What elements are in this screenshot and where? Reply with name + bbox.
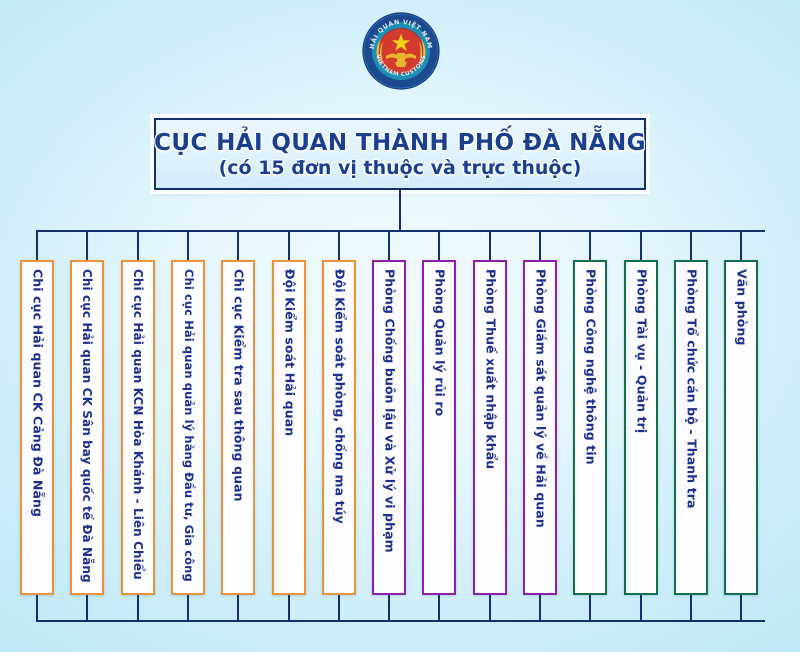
unit-label: Văn phòng bbox=[735, 269, 748, 346]
connector-riser bbox=[438, 594, 440, 621]
unit-box[interactable]: Phòng Quản lý rủi ro bbox=[422, 260, 456, 595]
unit-label: Phòng Thuế xuất nhập khẩu bbox=[483, 269, 496, 469]
connector-drop bbox=[86, 231, 88, 261]
top-bus-line bbox=[36, 230, 765, 232]
unit-label: Chi cục Kiểm tra sau thông quan bbox=[232, 269, 245, 502]
connector-riser bbox=[137, 594, 139, 621]
unit-box[interactable]: Chi cục Kiểm tra sau thông quan bbox=[221, 260, 255, 595]
root-title-box: CỤC HẢI QUAN THÀNH PHỐ ĐÀ NẴNG (có 15 đơ… bbox=[154, 118, 646, 190]
unit-box[interactable]: Đội Kiểm soát Hải quan bbox=[272, 260, 306, 595]
connector-riser bbox=[740, 594, 742, 621]
connector-drop bbox=[740, 231, 742, 261]
connector-drop bbox=[237, 231, 239, 261]
connector-riser bbox=[288, 594, 290, 621]
connector-riser bbox=[237, 594, 239, 621]
connector-drop bbox=[640, 231, 642, 261]
unit-label: Phòng Tài vụ - Quản trị bbox=[634, 269, 647, 433]
connector-riser bbox=[690, 594, 692, 621]
connector-riser bbox=[589, 594, 591, 621]
connector-drop bbox=[690, 231, 692, 261]
connector-drop bbox=[338, 231, 340, 261]
connector-drop bbox=[438, 231, 440, 261]
connector-drop bbox=[589, 231, 591, 261]
unit-label: Phòng Tổ chức cán bộ - Thanh tra bbox=[685, 269, 698, 509]
bottom-bus-line bbox=[36, 620, 765, 622]
unit-box[interactable]: Văn phòng bbox=[724, 260, 758, 595]
unit-box[interactable]: Phòng Công nghệ thông tin bbox=[573, 260, 607, 595]
connector-riser bbox=[388, 594, 390, 621]
unit-label: Phòng Quản lý rủi ro bbox=[433, 269, 446, 416]
unit-label: Chi cục Hải quan CK Sân bay quốc tế Đà N… bbox=[81, 269, 93, 583]
unit-box[interactable]: Phòng Thuế xuất nhập khẩu bbox=[473, 260, 507, 595]
connector-drop bbox=[137, 231, 139, 261]
unit-label: Đội Kiểm soát phòng, chống ma túy bbox=[333, 269, 346, 524]
connector-riser bbox=[489, 594, 491, 621]
unit-box[interactable]: Chi cục Hải quan CK Cảng Đà Nẵng bbox=[20, 260, 54, 595]
unit-label: Chi cục Hải quan quản lý hàng Đầu tư, Gi… bbox=[182, 269, 194, 582]
page-title: CỤC HẢI QUAN THÀNH PHỐ ĐÀ NẴNG bbox=[154, 130, 646, 156]
unit-box[interactable]: Chi cục Hải quan KCN Hòa Khánh - Liên Ch… bbox=[121, 260, 155, 595]
unit-label: Chi cục Hải quan CK Cảng Đà Nẵng bbox=[31, 269, 44, 517]
unit-label: Phòng Giám sát quản lý về Hải quan bbox=[534, 269, 547, 528]
connector-drop bbox=[388, 231, 390, 261]
connector-riser bbox=[539, 594, 541, 621]
connector-riser bbox=[86, 594, 88, 621]
bus-end-cap bbox=[740, 230, 742, 232]
unit-label: Đội Kiểm soát Hải quan bbox=[282, 269, 295, 436]
connector-drop bbox=[36, 231, 38, 261]
connector-riser bbox=[36, 594, 38, 621]
connector-drop bbox=[489, 231, 491, 261]
connector-drop bbox=[187, 231, 189, 261]
vietnam-customs-emblem: HẢI QUAN VIỆT NAM VIETNAM CUSTOMS bbox=[362, 12, 440, 90]
unit-label: Chi cục Hải quan KCN Hòa Khánh - Liên Ch… bbox=[132, 269, 144, 580]
unit-box[interactable]: Phòng Tổ chức cán bộ - Thanh tra bbox=[674, 260, 708, 595]
unit-box[interactable]: Phòng Tài vụ - Quản trị bbox=[624, 260, 658, 595]
connector-drop bbox=[288, 231, 290, 261]
unit-label: Phòng Công nghệ thông tin bbox=[584, 269, 597, 465]
org-chart: HẢI QUAN VIỆT NAM VIETNAM CUSTOMS CỤC HẢ… bbox=[0, 0, 800, 652]
connector-riser bbox=[640, 594, 642, 621]
connector-riser bbox=[338, 594, 340, 621]
unit-box[interactable]: Phòng Giám sát quản lý về Hải quan bbox=[523, 260, 557, 595]
unit-box[interactable]: Phòng Chống buôn lậu và Xử lý vi phạm bbox=[372, 260, 406, 595]
unit-label: Phòng Chống buôn lậu và Xử lý vi phạm bbox=[383, 269, 396, 553]
trunk-connector bbox=[399, 190, 401, 231]
connector-riser bbox=[187, 594, 189, 621]
unit-box[interactable]: Đội Kiểm soát phòng, chống ma túy bbox=[322, 260, 356, 595]
unit-box[interactable]: Chi cục Hải quan quản lý hàng Đầu tư, Gi… bbox=[171, 260, 205, 595]
bus-end-cap bbox=[36, 230, 38, 232]
unit-box[interactable]: Chi cục Hải quan CK Sân bay quốc tế Đà N… bbox=[70, 260, 104, 595]
page-subtitle: (có 15 đơn vị thuộc và trực thuộc) bbox=[219, 157, 582, 179]
connector-drop bbox=[539, 231, 541, 261]
